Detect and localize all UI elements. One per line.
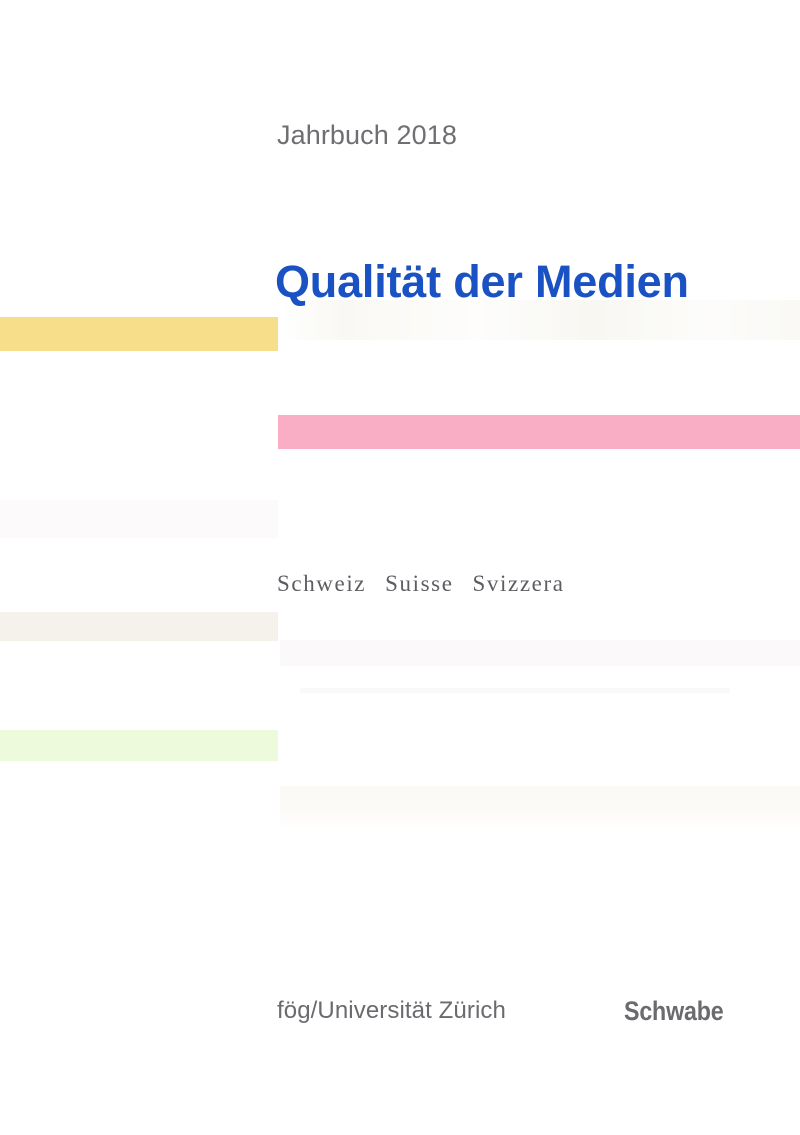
publisher-logo: Schwabe — [624, 996, 723, 1027]
language-label-fr: Suisse — [385, 571, 453, 596]
ghost-line — [300, 688, 730, 693]
book-cover: Jahrbuch 2018 Qualität der Medien Schwei… — [0, 0, 800, 1135]
language-label-it: Svizzera — [473, 571, 565, 596]
language-subtitle: SchweizSuisseSvizzera — [277, 571, 565, 597]
ghost-band-left — [0, 500, 278, 538]
institution-label: fög/Universität Zürich — [277, 997, 506, 1025]
series-year-label: Jahrbuch 2018 — [277, 120, 457, 151]
decorative-bar-pink — [278, 415, 800, 449]
page-title: Qualität der Medien — [275, 256, 689, 308]
ghost-band-bottom — [280, 786, 800, 826]
ghost-band-mid-right — [280, 640, 800, 666]
decorative-bar-green — [0, 730, 278, 761]
decorative-bar-yellow — [0, 317, 278, 351]
language-label-de: Schweiz — [277, 571, 366, 596]
decorative-bar-cream — [0, 612, 278, 641]
